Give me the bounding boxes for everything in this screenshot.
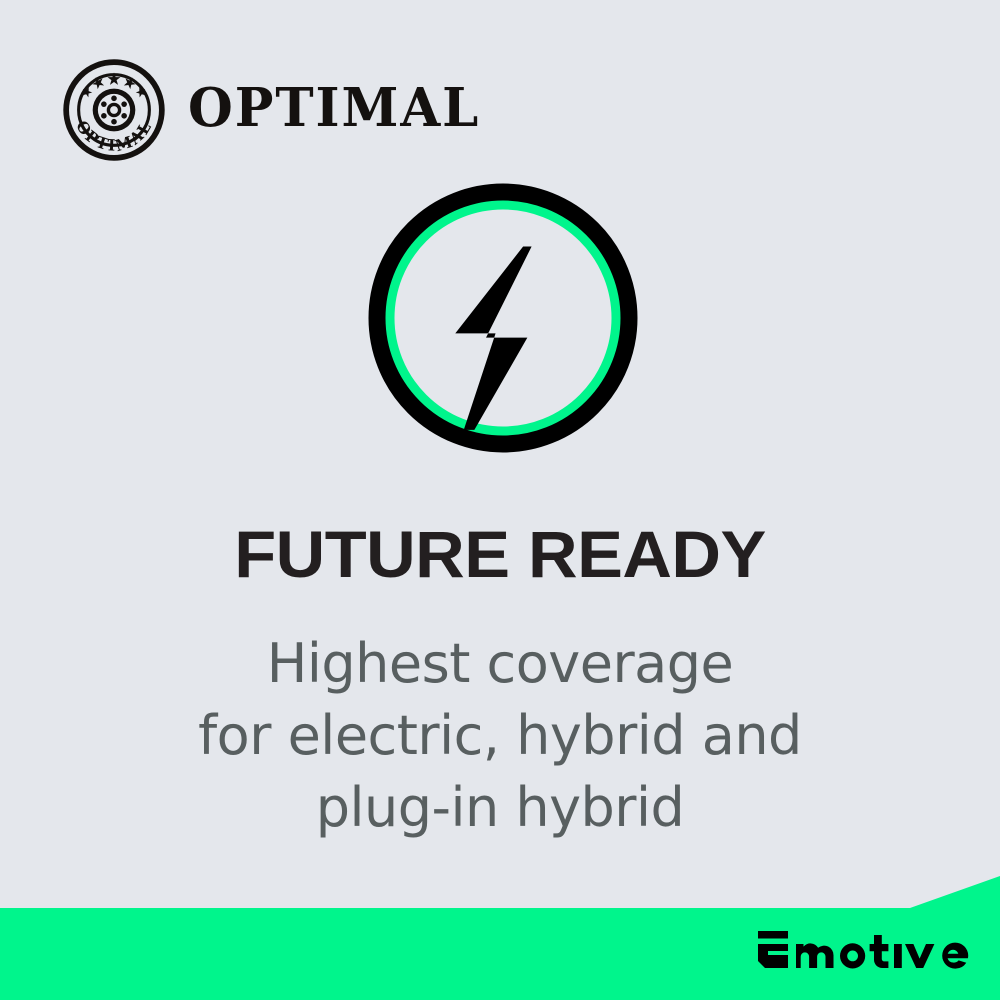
promo-card: OPTIMAL OPTIMAL: [0, 0, 1000, 1000]
brand-wordmark: OPTIMAL: [188, 82, 480, 139]
optimal-seal-icon: OPTIMAL: [62, 58, 166, 162]
brand-lockup: OPTIMAL OPTIMAL: [62, 58, 489, 162]
subhead-line-2: for electric, hybrid and: [0, 700, 1000, 772]
lightning-bolt-in-circle-icon: [368, 173, 638, 463]
subhead-line-1: Highest coverage: [0, 628, 1000, 700]
page-title: FUTURE READY: [0, 521, 1000, 587]
subhead: Highest coverage for electric, hybrid an…: [0, 628, 1000, 844]
footer-band: [0, 876, 1000, 1000]
emotive-logo: [756, 930, 972, 974]
subhead-line-3: plug-in hybrid: [0, 772, 1000, 844]
